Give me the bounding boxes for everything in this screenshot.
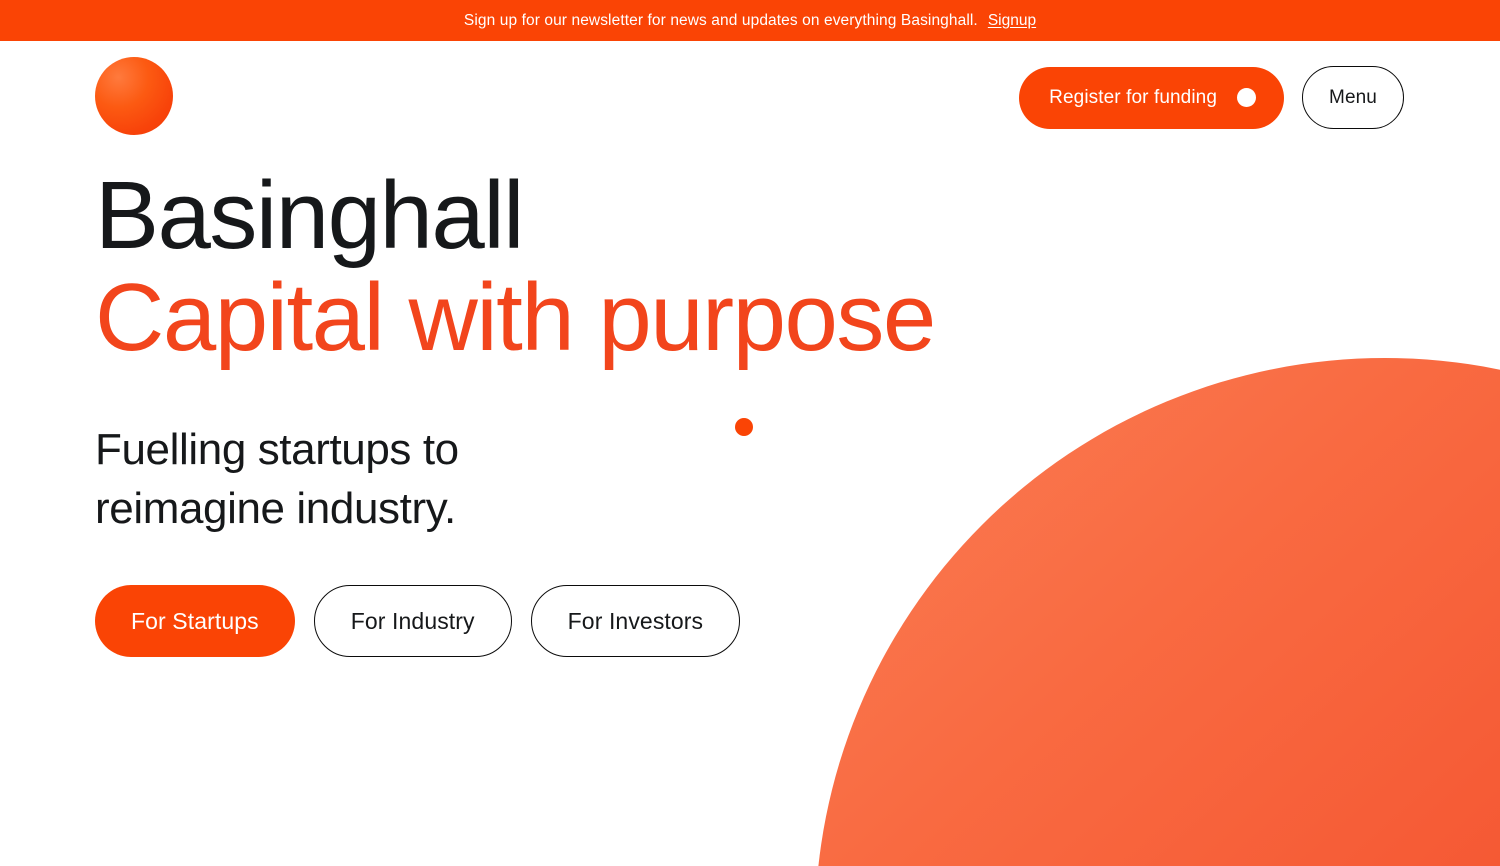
banner-signup-link[interactable]: Signup (988, 12, 1036, 30)
page-title: Basinghall (95, 166, 523, 267)
newsletter-banner: Sign up for our newsletter for news and … (0, 0, 1500, 41)
orange-accent-dot-icon (735, 418, 753, 436)
orange-gradient-circle (815, 358, 1500, 866)
header-actions: Register for funding Menu (1019, 66, 1404, 129)
audience-cta-group: For Startups For Industry For Investors (95, 585, 740, 657)
cta-for-startups[interactable]: For Startups (95, 585, 295, 657)
landing-page: Sign up for our newsletter for news and … (0, 0, 1500, 866)
register-button-label: Register for funding (1049, 87, 1217, 109)
basinghall-logo-icon[interactable] (95, 57, 173, 135)
circle-dot-icon (1237, 88, 1256, 107)
menu-button[interactable]: Menu (1302, 66, 1404, 129)
page-tagline: Capital with purpose (95, 268, 935, 369)
cta-for-investors[interactable]: For Investors (531, 585, 741, 657)
hero-subheadline: Fuelling startups to reimagine industry. (95, 421, 459, 538)
site-header: Register for funding Menu (0, 41, 1500, 153)
banner-message: Sign up for our newsletter for news and … (464, 12, 978, 30)
cta-for-industry[interactable]: For Industry (314, 585, 512, 657)
register-for-funding-button[interactable]: Register for funding (1019, 67, 1284, 129)
